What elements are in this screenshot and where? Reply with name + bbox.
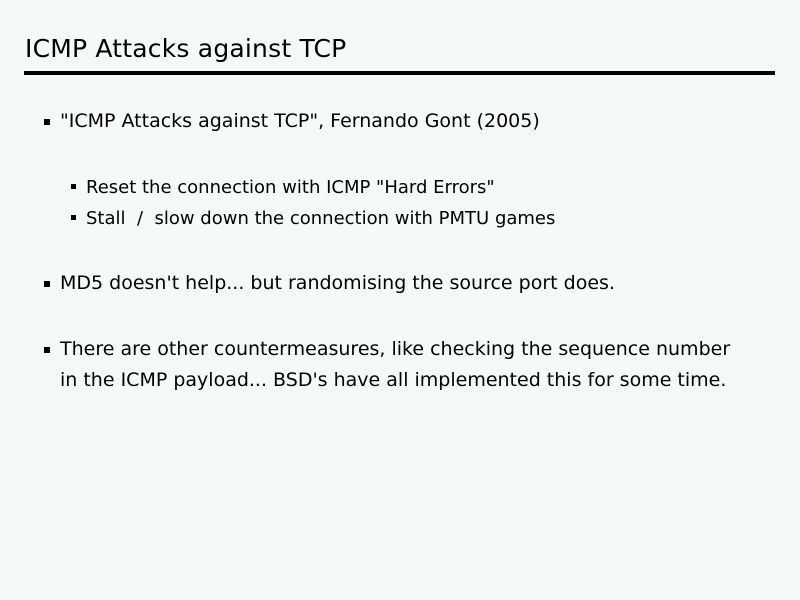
list-item-label: There are other countermeasures, like ch… <box>60 334 740 396</box>
list-item-label: Reset the connection with ICMP "Hard Err… <box>86 172 726 203</box>
title-block: ICMP Attacks against TCP <box>25 34 775 64</box>
spacer <box>0 137 800 172</box>
square-bullet-icon <box>44 119 50 125</box>
title-underline-rule <box>24 71 775 75</box>
list-item-label: MD5 doesn't help... but randomising the … <box>60 268 740 299</box>
list-item: Stall / slow down the connection with PM… <box>71 203 726 234</box>
list-item: There are other countermeasures, like ch… <box>44 334 740 396</box>
square-bullet-icon <box>71 184 76 189</box>
spacer <box>0 299 800 334</box>
sub-list: Reset the connection with ICMP "Hard Err… <box>0 172 800 234</box>
slide-body: "ICMP Attacks against TCP", Fernando Gon… <box>0 106 800 396</box>
list-item-label: Stall / slow down the connection with PM… <box>86 203 726 234</box>
list-item: "ICMP Attacks against TCP", Fernando Gon… <box>44 106 740 137</box>
square-bullet-icon <box>44 347 50 353</box>
list-item-label: "ICMP Attacks against TCP", Fernando Gon… <box>60 106 740 137</box>
list-item: MD5 doesn't help... but randomising the … <box>44 268 740 299</box>
spacer <box>0 234 800 268</box>
square-bullet-icon <box>71 215 76 220</box>
page-title: ICMP Attacks against TCP <box>25 34 775 64</box>
list-item: Reset the connection with ICMP "Hard Err… <box>71 172 726 203</box>
square-bullet-icon <box>44 281 50 287</box>
slide: ICMP Attacks against TCP "ICMP Attacks a… <box>0 0 800 600</box>
